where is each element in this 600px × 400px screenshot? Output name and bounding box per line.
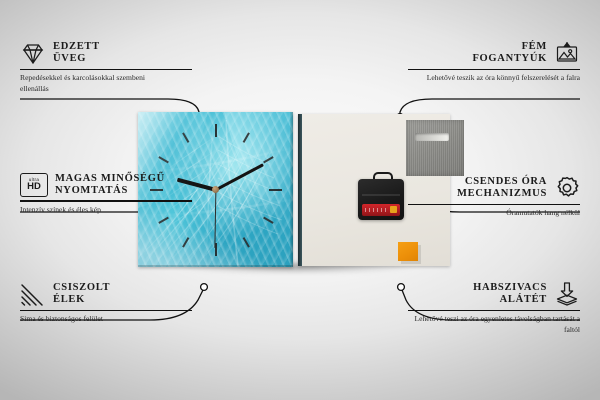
callout-title-line-1: CSISZOLT: [53, 282, 110, 293]
callout-title-line-2: FOGANTYÚK: [472, 53, 547, 64]
callout-title-line-2: ÜVEG: [53, 53, 86, 64]
hanger-keyhole-slot: [415, 133, 449, 141]
battery: [362, 204, 400, 216]
callout-rule: [408, 204, 580, 205]
callout-rule: [20, 69, 192, 70]
callout-title: FÉM FOGANTYÚK: [472, 41, 547, 65]
callout-title-line-2: MECHANIZMUS: [457, 188, 547, 199]
callout-header: EDZETT ÜVEG: [20, 40, 192, 66]
clock-mechanism: [358, 172, 404, 220]
callout-title: EDZETT ÜVEG: [53, 41, 100, 65]
foam-spacer-pad: [398, 242, 418, 261]
callout-description: Óramutatók hang nélkül: [408, 208, 580, 219]
callout-description: Lehetővé teszi az óra egyenletes távolsá…: [408, 314, 580, 336]
callout-rule: [20, 200, 192, 201]
callout-rule: [20, 310, 192, 311]
callout-title-line-2: NYOMTATÁS: [55, 185, 128, 196]
callout-tempered-glass: EDZETT ÜVEG Repedésekkel és karcolásokka…: [20, 40, 192, 95]
battery-plus-terminal: [390, 206, 397, 213]
callout-title: CSISZOLT ÉLEK: [53, 282, 110, 306]
callout-title-line-1: MAGAS MINŐSÉGŰ: [55, 173, 165, 184]
ultra-hd-badge-icon: ultra HD: [20, 173, 48, 197]
callout-polished-edges: CSISZOLT ÉLEK Sima és biztonságos felüle…: [20, 281, 192, 325]
mechanism-body: [358, 179, 404, 220]
callout-rule: [408, 310, 580, 311]
callout-header: HABSZIVACS ALÁTÉT: [408, 281, 580, 307]
press-pad-down-arrow-icon: [554, 281, 580, 307]
callout-header: CSISZOLT ÉLEK: [20, 281, 192, 307]
callout-title-line-2: ÉLEK: [53, 294, 85, 305]
battery-label-bars: [365, 208, 389, 212]
metal-hanger-plate: [406, 120, 464, 176]
callout-title-line-1: FÉM: [522, 41, 547, 52]
infographic-canvas: EDZETT ÜVEG Repedésekkel és karcolásokka…: [0, 0, 600, 400]
callout-title: CSENDES ÓRA MECHANIZMUS: [457, 176, 547, 200]
callout-title-line-1: CSENDES ÓRA: [465, 176, 547, 187]
callout-title: MAGAS MINŐSÉGŰ NYOMTATÁS: [55, 173, 165, 197]
callout-metal-handles: FÉM FOGANTYÚK Lehetővé teszik az óra kön…: [408, 40, 580, 84]
mechanism-seam: [362, 194, 400, 196]
callout-title-line-1: HABSZIVACS: [473, 282, 547, 293]
hour-tick-3: [216, 189, 282, 191]
diamond-icon: [20, 40, 46, 66]
callout-description: Intenzív színek és éles kép: [20, 205, 180, 216]
callout-header: CSENDES ÓRA MECHANIZMUS: [408, 175, 580, 201]
callout-header: FÉM FOGANTYÚK: [408, 40, 580, 66]
callout-high-quality-print: ultra HD MAGAS MINŐSÉGŰ NYOMTATÁS Intenz…: [20, 173, 192, 215]
glass-bottom-edge: [138, 265, 293, 267]
callout-silent-mechanism: CSENDES ÓRA MECHANIZMUS Óramutatók hang …: [408, 175, 580, 219]
callout-foam-pad: HABSZIVACS ALÁTÉT Lehetővé teszi az óra …: [408, 281, 580, 336]
callout-rule: [408, 69, 580, 70]
framed-picture-hanging-icon: [554, 40, 580, 66]
clock-hub: [212, 186, 219, 193]
callout-title: HABSZIVACS ALÁTÉT: [473, 282, 547, 306]
beveled-edges-icon: [20, 281, 46, 307]
glass-right-edge: [290, 112, 293, 267]
callout-description: Sima és biztonságos felület: [20, 314, 180, 325]
hour-tick-12: [215, 124, 217, 190]
badge-hd-label: HD: [27, 182, 41, 192]
gear-icon: [554, 175, 580, 201]
callout-title-line-2: ALÁTÉT: [500, 294, 547, 305]
panel-left-edge: [298, 114, 302, 266]
callout-description: Repedésekkel és karcolásokkal szembeni e…: [20, 73, 170, 95]
callout-header: ultra HD MAGAS MINŐSÉGŰ NYOMTATÁS: [20, 173, 192, 197]
callout-title-line-1: EDZETT: [53, 41, 100, 52]
callout-description: Lehetővé teszik az óra könnyű felszerelé…: [408, 73, 580, 84]
